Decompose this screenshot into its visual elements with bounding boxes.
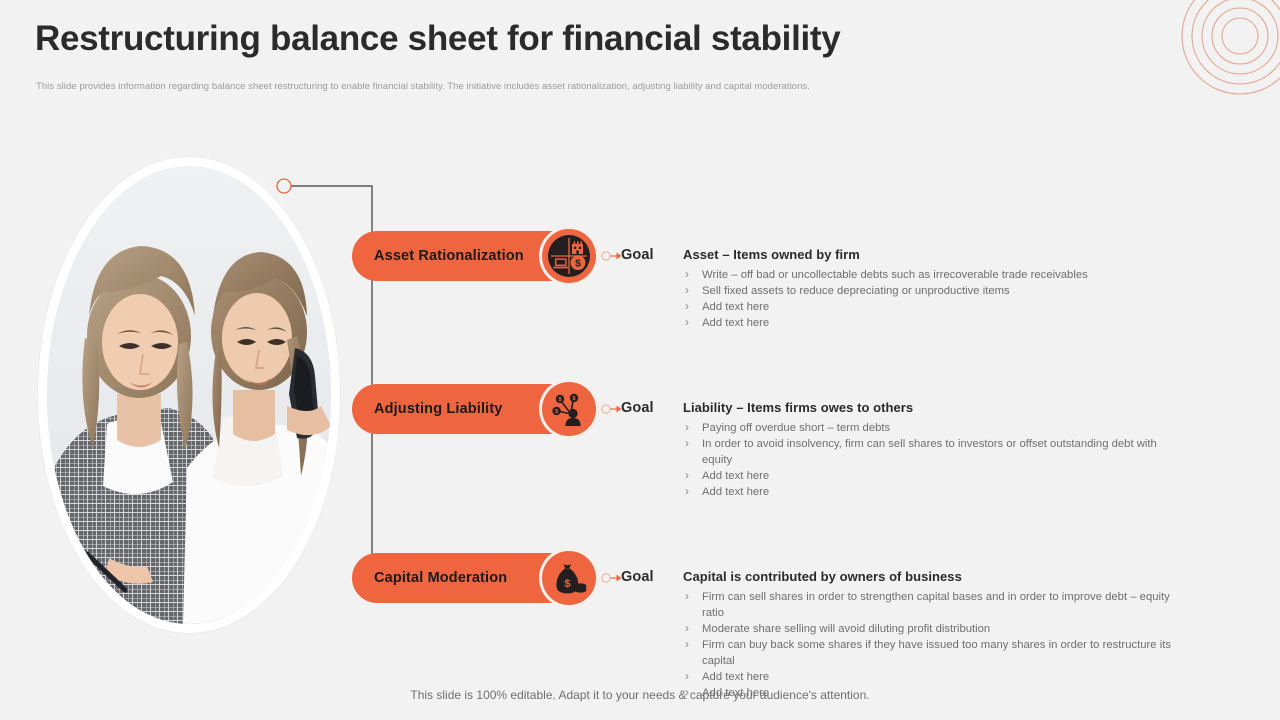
svg-text:$: $ (573, 396, 576, 402)
pill-label: Adjusting Liability (352, 401, 503, 417)
svg-text:$: $ (564, 578, 570, 590)
bullet-list: Write – off bad or uncollectable debts s… (683, 267, 1173, 331)
pill-label: Capital Moderation (352, 570, 507, 586)
businesswomen-photo-illustration (47, 166, 331, 624)
list-item: Write – off bad or uncollectable debts s… (683, 267, 1173, 283)
list-item: Moderate share selling will avoid diluti… (683, 621, 1173, 637)
bullet-list: Paying off overdue short – term debts In… (683, 420, 1173, 500)
capital-money-bag-coins-icon: $ (542, 551, 596, 605)
page-subtitle: This slide provides information regardin… (36, 81, 810, 92)
list-item: Add text here (683, 468, 1173, 484)
liability-person-network-coins-icon: $ $ $ (542, 382, 596, 436)
content-asset: Asset – Items owned by firm Write – off … (683, 247, 1173, 331)
pill-label: Asset Rationalization (352, 248, 524, 264)
content-heading: Capital is contributed by owners of busi… (683, 569, 1173, 584)
list-item: Sell fixed assets to reduce depreciating… (683, 283, 1173, 299)
page-title: Restructuring balance sheet for financia… (35, 19, 840, 59)
photo-oval-frame (38, 157, 340, 633)
list-item: Firm can buy back some shares if they ha… (683, 637, 1173, 669)
list-item: Firm can sell shares in order to strengt… (683, 589, 1173, 621)
content-heading: Asset – Items owned by firm (683, 247, 1173, 262)
content-liability: Liability – Items firms owes to others P… (683, 400, 1173, 500)
goal-label: Goal (621, 247, 654, 263)
content-heading: Liability – Items firms owes to others (683, 400, 1173, 415)
list-item: Paying off overdue short – term debts (683, 420, 1173, 436)
bullet-list: Firm can sell shares in order to strengt… (683, 589, 1173, 701)
svg-text:$: $ (559, 397, 562, 403)
list-item: Add text here (683, 299, 1173, 315)
list-item: Add text here (683, 315, 1173, 331)
asset-pie-building-laptop-dollar-icon: $ (542, 229, 596, 283)
goal-label: Goal (621, 400, 654, 416)
svg-text:$: $ (575, 258, 581, 270)
list-item: Add text here (683, 669, 1173, 685)
svg-text:$: $ (555, 409, 558, 415)
slide-footer-note: This slide is 100% editable. Adapt it to… (0, 688, 1280, 702)
content-capital: Capital is contributed by owners of busi… (683, 569, 1173, 701)
photo-image (47, 166, 331, 624)
list-item: In order to avoid insolvency, firm can s… (683, 436, 1173, 468)
concentric-rings-icon (1178, 0, 1280, 98)
connector-node-circle-icon (277, 179, 291, 193)
goal-label: Goal (621, 569, 654, 585)
list-item: Add text here (683, 484, 1173, 500)
